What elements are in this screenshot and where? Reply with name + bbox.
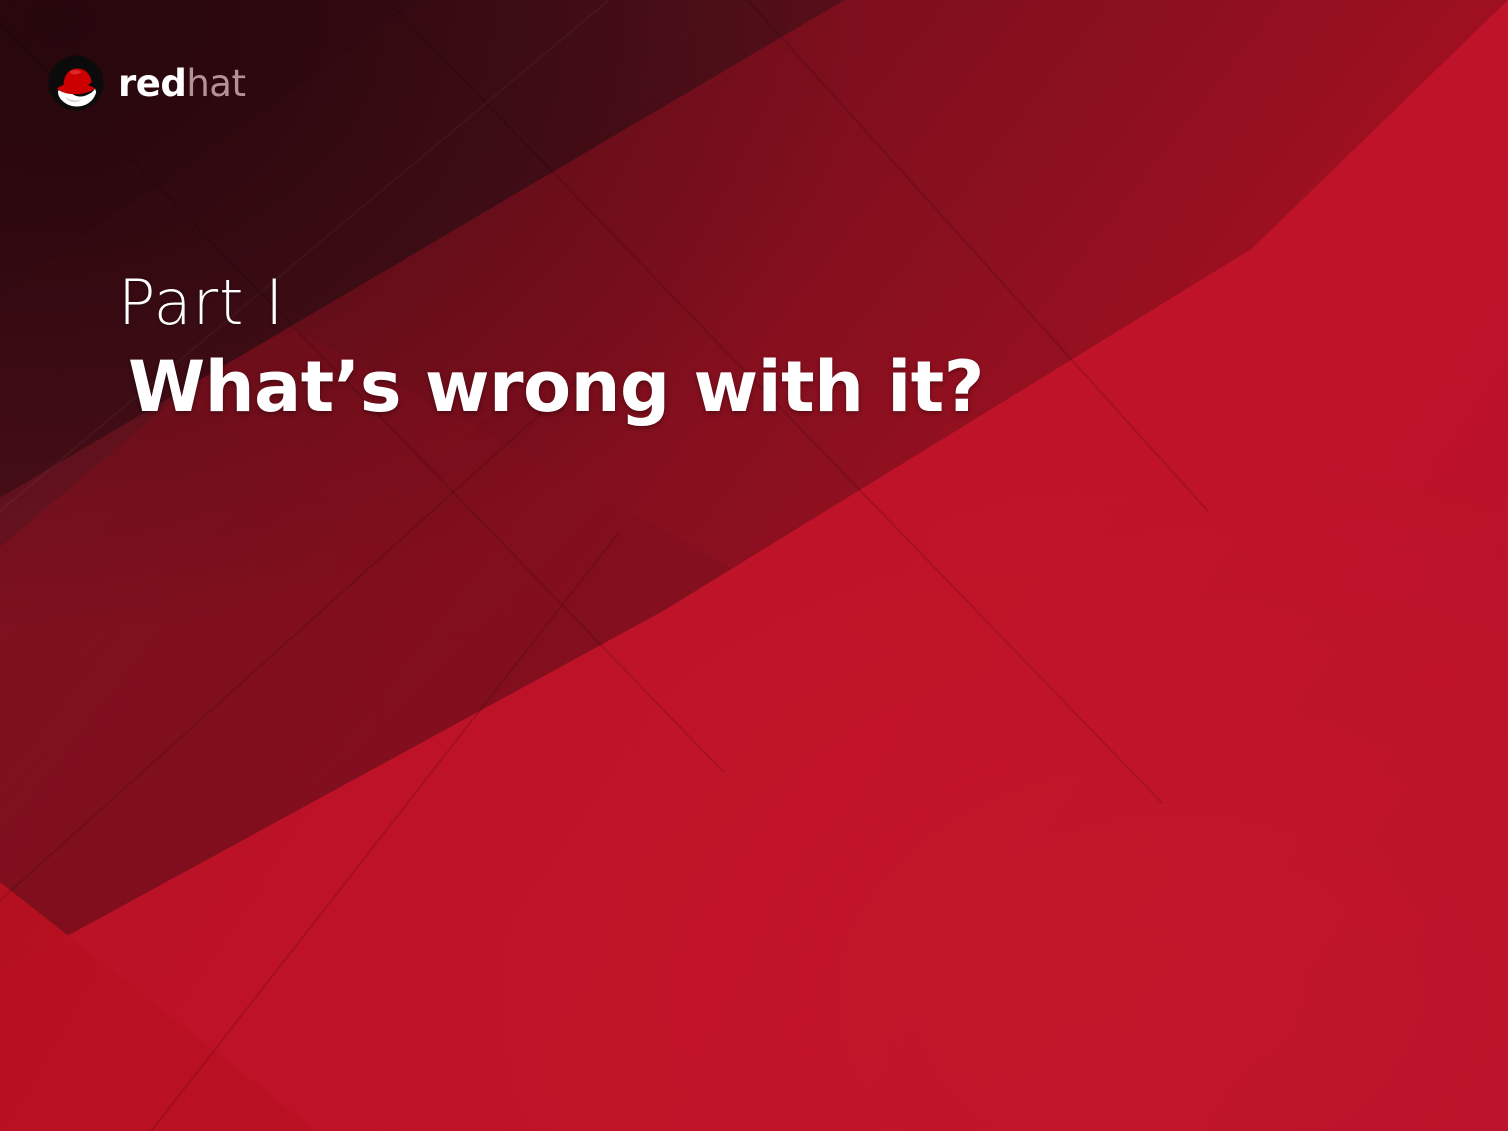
background-dark-corner (0, 0, 1508, 1131)
slide-text-block: Part I What’s wrong with it? (118, 270, 984, 424)
presentation-slide: redhat Part I What’s wrong with it? (0, 0, 1508, 1131)
background-facet-upper (0, 0, 1508, 1131)
background-facet-diamond (0, 0, 1508, 1131)
background-dark-corner-inner (0, 0, 1508, 1131)
wordmark-hat: hat (186, 62, 245, 105)
background-vignette (0, 0, 1508, 1131)
shadowman-icon (48, 55, 104, 111)
redhat-logo: redhat (48, 55, 245, 111)
background-bright-wedge (0, 0, 1508, 1131)
slide-title: What’s wrong with it? (118, 351, 984, 425)
background-seam-6 (739, 0, 1209, 512)
slide-part-label: Part I (118, 270, 984, 337)
background-base-gradient (0, 0, 1508, 1131)
background-seam-5 (150, 532, 619, 1131)
background-bright-wedge-lower-left (0, 0, 1508, 1131)
wordmark-red: red (118, 62, 186, 105)
redhat-wordmark: redhat (118, 65, 245, 102)
background-seam-4 (0, 378, 580, 982)
